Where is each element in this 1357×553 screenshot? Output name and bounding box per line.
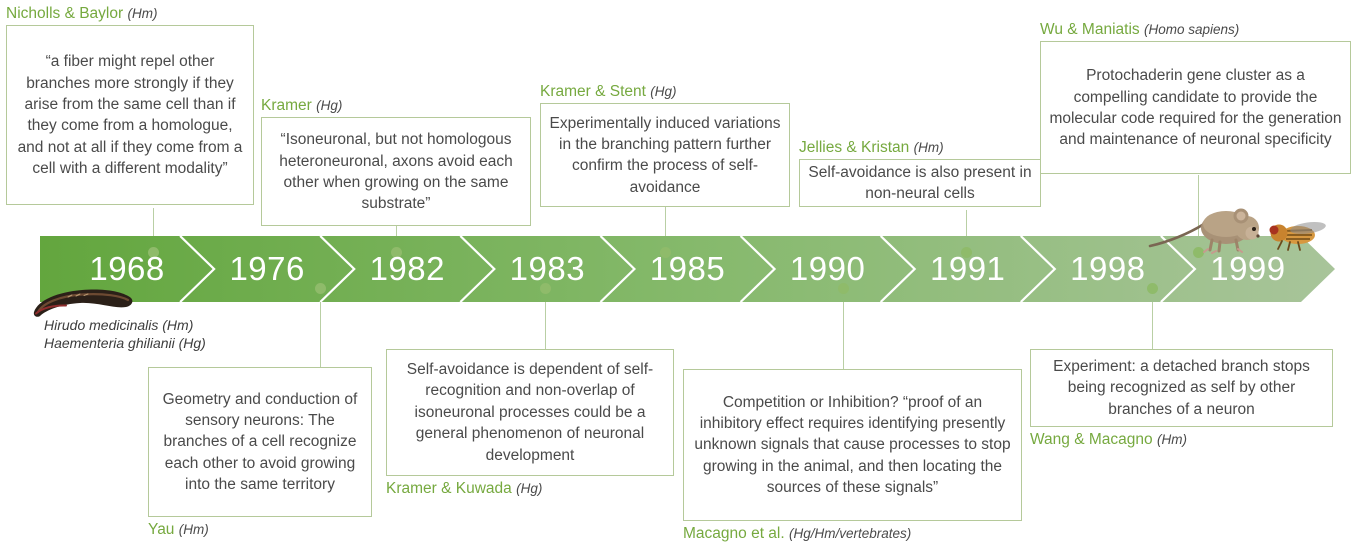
card-wang-macagno[interactable]: Experiment: a detached branch stops bein… xyxy=(1030,349,1333,451)
card-yau[interactable]: Geometry and conduction of sensory neuro… xyxy=(148,367,372,541)
card-text-wang-macagno: Experiment: a detached branch stops bein… xyxy=(1030,349,1333,427)
timeline-year-label: 1998 xyxy=(1070,250,1145,288)
card-text-kramer-kuwada: Self-avoidance is dependent of self-reco… xyxy=(386,349,674,476)
timeline-year-label: 1990 xyxy=(790,250,865,288)
timeline-year-label: 1991 xyxy=(930,250,1005,288)
card-label-macagno: Macagno et al. (Hg/Hm/vertebrates) xyxy=(683,521,1022,545)
card-author-kramer: Kramer xyxy=(261,97,312,114)
card-author-wu-maniatis: Wu & Maniatis xyxy=(1040,21,1140,38)
card-author-jellies-kristan: Jellies & Kristan xyxy=(799,139,909,156)
card-species-yau: (Hm) xyxy=(179,522,209,537)
timeline-year-label: 1982 xyxy=(370,250,445,288)
timeline-dot-1998 xyxy=(1147,283,1158,294)
timeline-year-label: 1968 xyxy=(89,250,164,288)
card-kramer-kuwada[interactable]: Self-avoidance is dependent of self-reco… xyxy=(386,349,674,500)
card-text-kramer: “Isoneuronal, but not homologous heteron… xyxy=(261,117,531,226)
card-species-wu-maniatis: (Homo sapiens) xyxy=(1144,22,1239,37)
card-jellies-kristan[interactable]: Jellies & Kristan (Hm) Self-avoidance is… xyxy=(799,138,1041,207)
species-caption-line1: Hirudo medicinalis (Hm) xyxy=(44,317,206,335)
card-macagno[interactable]: Competition or Inhibition? “proof of an … xyxy=(683,369,1022,545)
card-author-kramer-stent: Kramer & Stent xyxy=(540,83,646,100)
card-label-jellies-kristan: Jellies & Kristan (Hm) xyxy=(799,138,1041,159)
card-wu-maniatis[interactable]: Wu & Maniatis (Homo sapiens) Protochader… xyxy=(1040,20,1351,174)
card-author-macagno: Macagno et al. xyxy=(683,525,785,542)
card-species-macagno: (Hg/Hm/vertebrates) xyxy=(789,526,911,541)
card-kramer[interactable]: Kramer (Hg) “Isoneuronal, but not homolo… xyxy=(261,96,531,226)
card-label-wu-maniatis: Wu & Maniatis (Homo sapiens) xyxy=(1040,20,1351,41)
timeline-year-label: 1999 xyxy=(1210,250,1285,288)
fly-image xyxy=(1264,218,1330,252)
card-author-kramer-kuwada: Kramer & Kuwada xyxy=(386,480,512,497)
card-label-wang-macagno: Wang & Macagno (Hm) xyxy=(1030,427,1333,451)
card-label-nicholls-baylor: Nicholls & Baylor (Hm) xyxy=(6,4,254,25)
card-text-wu-maniatis: Protochaderin gene cluster as a compelli… xyxy=(1040,41,1351,174)
card-label-yau: Yau (Hm) xyxy=(148,517,372,541)
timeline-bar: 196819761982198319851990199119981999 xyxy=(40,236,1335,302)
card-label-kramer-kuwada: Kramer & Kuwada (Hg) xyxy=(386,476,674,500)
card-species-kramer-kuwada: (Hg) xyxy=(516,481,542,496)
timeline-year-label: 1983 xyxy=(510,250,585,288)
card-species-jellies-kristan: (Hm) xyxy=(914,140,944,155)
timeline-year-label: 1976 xyxy=(229,250,304,288)
card-kramer-stent[interactable]: Kramer & Stent (Hg) Experimentally induc… xyxy=(540,82,790,207)
card-species-nicholls-baylor: (Hm) xyxy=(127,6,157,21)
species-caption-line2: Haementeria ghilianii (Hg) xyxy=(44,335,206,353)
card-nicholls-baylor[interactable]: Nicholls & Baylor (Hm) “a fiber might re… xyxy=(6,4,254,205)
card-author-yau: Yau xyxy=(148,521,174,538)
timeline-year-label: 1985 xyxy=(650,250,725,288)
card-label-kramer: Kramer (Hg) xyxy=(261,96,531,117)
card-species-kramer: (Hg) xyxy=(316,98,342,113)
timeline-figure: 196819761982198319851990199119981999 Hir… xyxy=(0,0,1357,553)
card-species-kramer-stent: (Hg) xyxy=(650,84,676,99)
card-text-macagno: Competition or Inhibition? “proof of an … xyxy=(683,369,1022,521)
mouse-image xyxy=(1148,198,1278,254)
card-author-wang-macagno: Wang & Macagno xyxy=(1030,431,1153,448)
card-text-kramer-stent: Experimentally induced variations in the… xyxy=(540,103,790,207)
card-text-yau: Geometry and conduction of sensory neuro… xyxy=(148,367,372,517)
card-author-nicholls-baylor: Nicholls & Baylor xyxy=(6,5,123,22)
species-caption: Hirudo medicinalis (Hm) Haementeria ghil… xyxy=(44,317,206,353)
card-label-kramer-stent: Kramer & Stent (Hg) xyxy=(540,82,790,103)
card-species-wang-macagno: (Hm) xyxy=(1157,432,1187,447)
card-text-jellies-kristan: Self-avoidance is also present in non-ne… xyxy=(799,159,1041,207)
card-text-nicholls-baylor: “a fiber might repel other branches more… xyxy=(6,25,254,205)
timeline-dot-1976 xyxy=(315,283,326,294)
